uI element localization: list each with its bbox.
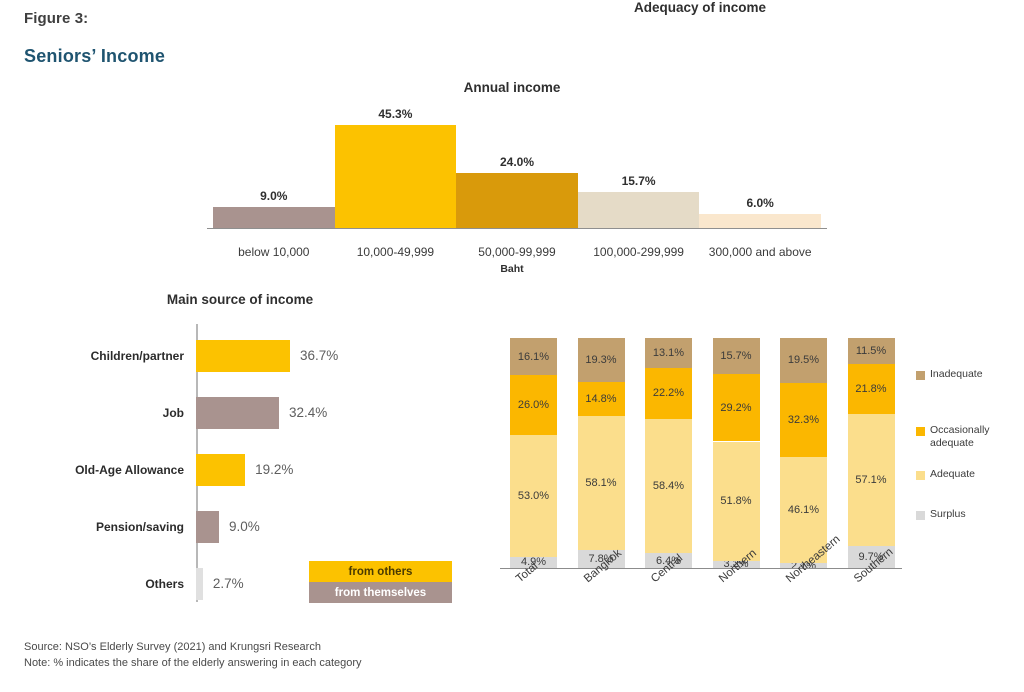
annual-income-axis-line bbox=[207, 228, 827, 229]
adequacy-value-label: 58.4% bbox=[653, 480, 684, 492]
adequacy-segment: 26.0% bbox=[510, 375, 557, 435]
adequacy-legend-item: Adequate bbox=[916, 468, 975, 481]
main-source-bar bbox=[196, 511, 219, 543]
annual-income-category-label: 100,000-299,999 bbox=[578, 245, 700, 259]
legend-label: Adequate bbox=[930, 468, 975, 481]
adequacy-segment: 19.3% bbox=[578, 338, 625, 382]
main-source-category-label: Children/partner bbox=[8, 349, 184, 363]
main-source-bar bbox=[196, 397, 279, 429]
main-source-title: Main source of income bbox=[20, 292, 460, 307]
adequacy-value-label: 29.2% bbox=[720, 402, 751, 414]
annual-income-bar bbox=[456, 173, 578, 228]
adequacy-value-label: 19.3% bbox=[585, 354, 616, 366]
annual-income-bar bbox=[578, 192, 700, 228]
main-source-category-label: Job bbox=[8, 406, 184, 420]
annual-income-value-label: 15.7% bbox=[578, 174, 700, 188]
annual-income-bar bbox=[335, 125, 457, 228]
adequacy-segment: 32.3% bbox=[780, 383, 827, 457]
annual-income-category-label: below 10,000 bbox=[213, 245, 335, 259]
adequacy-title: Adequacy of income bbox=[490, 0, 910, 15]
annual-income-category-label: 50,000-99,999 bbox=[456, 245, 578, 259]
source-note: Source: NSO’s Elderly Survey (2021) and … bbox=[24, 640, 362, 656]
legend-item-from-others: from others bbox=[309, 561, 452, 582]
annual-income-value-label: 45.3% bbox=[335, 107, 457, 121]
annual-income-axis-title: Baht bbox=[0, 263, 1024, 275]
main-source-category-label: Old-Age Allowance bbox=[8, 463, 184, 477]
adequacy-value-label: 14.8% bbox=[585, 393, 616, 405]
adequacy-value-label: 15.7% bbox=[720, 350, 751, 362]
figure-label: Figure 3: bbox=[24, 10, 88, 27]
adequacy-value-label: 22.2% bbox=[653, 387, 684, 399]
adequacy-segment: 21.8% bbox=[848, 364, 895, 414]
adequacy-value-label: 32.3% bbox=[788, 414, 819, 426]
annual-income-value-label: 9.0% bbox=[213, 189, 335, 203]
footer-notes: Source: NSO’s Elderly Survey (2021) and … bbox=[24, 640, 362, 671]
annual-income-category-label: 10,000-49,999 bbox=[335, 245, 457, 259]
adequacy-value-label: 19.5% bbox=[788, 354, 819, 366]
main-source-category-label: Pension/saving bbox=[8, 520, 184, 534]
chart-adequacy-of-income: 4.9%53.0%26.0%16.1%7.8%58.1%14.8%19.3%6.… bbox=[490, 292, 1024, 632]
main-source-value-label: 19.2% bbox=[255, 462, 293, 477]
adequacy-segment: 14.8% bbox=[578, 382, 625, 416]
legend-swatch bbox=[916, 471, 925, 480]
adequacy-segment: 13.1% bbox=[645, 338, 692, 368]
main-source-legend: from others from themselves bbox=[309, 561, 452, 603]
main-source-bar bbox=[196, 454, 245, 486]
adequacy-segment: 19.5% bbox=[780, 338, 827, 383]
adequacy-value-label: 21.8% bbox=[855, 383, 886, 395]
annual-income-bar bbox=[699, 214, 821, 228]
legend-swatch bbox=[916, 511, 925, 520]
adequacy-axis-line bbox=[500, 568, 902, 569]
adequacy-segment: 57.1% bbox=[848, 414, 895, 545]
main-source-category-label: Others bbox=[8, 577, 184, 591]
adequacy-value-label: 11.5% bbox=[856, 345, 886, 357]
legend-item-from-themselves: from themselves bbox=[309, 582, 452, 603]
figure-canvas: Figure 3: Seniors’ Income Annual income … bbox=[0, 0, 1024, 692]
adequacy-legend-item: Surplus bbox=[916, 508, 966, 521]
adequacy-segment: 15.7% bbox=[713, 338, 760, 374]
main-source-value-label: 9.0% bbox=[229, 519, 260, 534]
adequacy-value-label: 13.1% bbox=[653, 347, 684, 359]
adequacy-segment: 58.4% bbox=[645, 419, 692, 553]
legend-label: Occasionally adequate bbox=[930, 424, 1024, 450]
legend-label: Surplus bbox=[930, 508, 966, 521]
adequacy-segment: 16.1% bbox=[510, 338, 557, 375]
main-source-bar bbox=[196, 340, 290, 372]
annual-income-value-label: 24.0% bbox=[456, 155, 578, 169]
legend-swatch bbox=[916, 371, 925, 380]
adequacy-value-label: 26.0% bbox=[518, 399, 549, 411]
adequacy-value-label: 57.1% bbox=[855, 474, 886, 486]
adequacy-segment: 51.8% bbox=[713, 442, 760, 561]
annual-income-title: Annual income bbox=[0, 80, 1024, 95]
method-note: Note: % indicates the share of the elder… bbox=[24, 656, 362, 672]
adequacy-legend-item: Occasionally adequate bbox=[916, 424, 1024, 450]
adequacy-value-label: 16.1% bbox=[518, 351, 549, 363]
adequacy-value-label: 51.8% bbox=[720, 495, 751, 507]
adequacy-segment: 22.2% bbox=[645, 368, 692, 419]
main-source-value-label: 32.4% bbox=[289, 405, 327, 420]
chart-annual-income: Annual income 9.0%45.3%24.0%15.7%6.0% bbox=[0, 70, 1024, 270]
legend-swatch bbox=[916, 427, 925, 436]
adequacy-value-label: 53.0% bbox=[518, 490, 549, 502]
adequacy-legend-item: Inadequate bbox=[916, 368, 983, 381]
adequacy-value-label: 58.1% bbox=[585, 477, 616, 489]
adequacy-value-label: 46.1% bbox=[788, 504, 819, 516]
main-source-bar bbox=[196, 568, 203, 600]
annual-income-bar bbox=[213, 207, 335, 228]
main-source-value-label: 36.7% bbox=[300, 348, 338, 363]
page-title: Seniors’ Income bbox=[24, 46, 165, 67]
annual-income-value-label: 6.0% bbox=[699, 196, 821, 210]
annual-income-category-label: 300,000 and above bbox=[699, 245, 821, 259]
legend-label: Inadequate bbox=[930, 368, 983, 381]
adequacy-segment: 58.1% bbox=[578, 416, 625, 550]
adequacy-segment: 53.0% bbox=[510, 435, 557, 557]
adequacy-segment: 29.2% bbox=[713, 374, 760, 441]
main-source-value-label: 2.7% bbox=[213, 576, 244, 591]
adequacy-segment: 11.5% bbox=[848, 338, 895, 364]
